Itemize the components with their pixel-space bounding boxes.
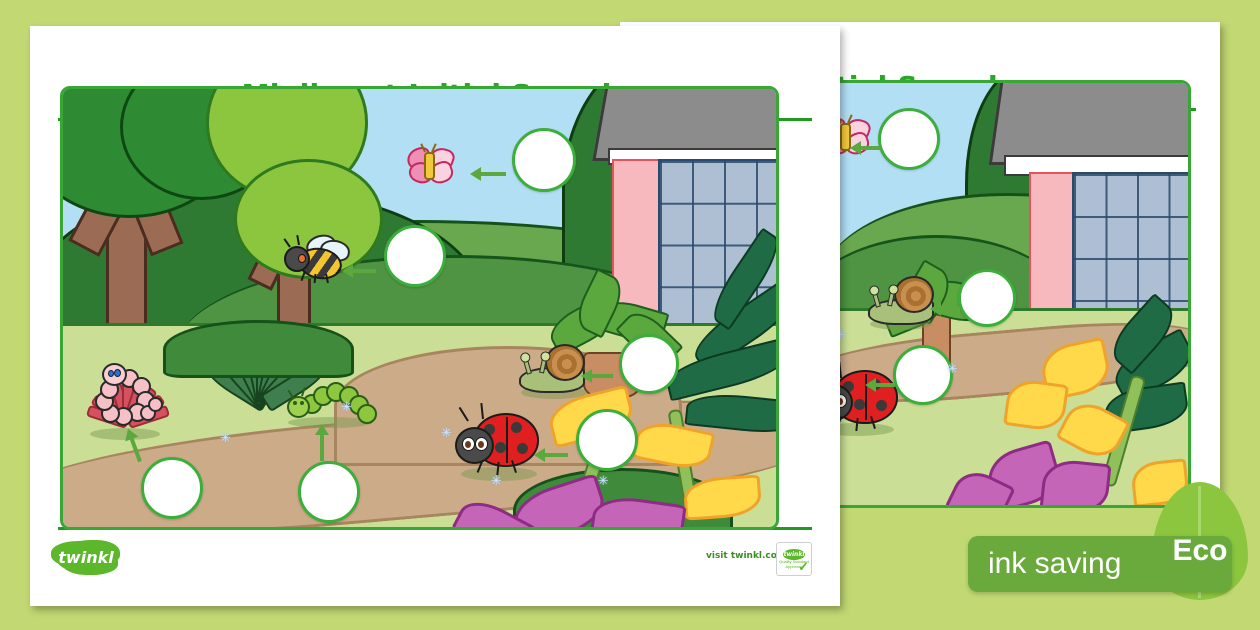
house-roof	[988, 80, 1191, 165]
twinkl-logo[interactable]: twinkl	[56, 542, 116, 572]
caterpillar-head	[287, 396, 310, 418]
ladybird-eye	[475, 437, 488, 451]
sparkle-icon: ✳	[441, 426, 452, 439]
back-sheet-garden-scene: ✳ ✳	[825, 80, 1191, 508]
ladybird	[455, 413, 541, 475]
arrow-to-snail	[591, 374, 613, 378]
screenshot-root: itial Sounds	[0, 0, 1260, 630]
ladybird-spot	[517, 443, 528, 454]
bee-leg	[301, 272, 306, 281]
check-icon: ✓	[798, 559, 809, 575]
sparkle-icon: ✳	[598, 474, 609, 487]
answer-circle-snail[interactable]	[619, 334, 679, 394]
snail	[868, 277, 934, 325]
visit-link[interactable]: visit twinkl.com	[706, 551, 786, 561]
butterfly-body	[840, 123, 851, 151]
ladybird-eye	[462, 437, 475, 451]
worm-eye	[108, 370, 114, 377]
answer-circle-ladybird[interactable]	[576, 409, 638, 471]
garden-scene: ✳ ✳ ✳ ✳ ✳	[60, 86, 779, 530]
ladybird-spot	[511, 422, 522, 433]
snail-shell	[894, 276, 934, 313]
caterpillar-antenna	[288, 390, 294, 399]
twinkl-logo-text: twinkl	[58, 548, 113, 567]
bee-head	[284, 246, 310, 272]
eco-label: Eco	[1162, 534, 1238, 568]
arrow-to-snail	[940, 307, 960, 311]
ladybird-wing-line	[506, 417, 508, 463]
answer-circle-snail[interactable]	[958, 269, 1016, 327]
worm-eye	[114, 369, 121, 377]
ladybird-spot	[854, 399, 865, 410]
arrow-to-caterpillar	[320, 435, 324, 461]
ladybird-head	[455, 427, 494, 464]
sparkle-icon: ✳	[341, 400, 352, 413]
sparkle-icon: ✳	[491, 474, 502, 487]
answer-circle-worm[interactable]	[141, 457, 203, 519]
worksheet-sheet-front[interactable]: Minibeast Initial Sounds	[30, 26, 840, 606]
butterfly-body	[424, 152, 435, 180]
bush	[163, 320, 354, 379]
sparkle-icon: ✳	[220, 431, 231, 444]
arrow-to-bee	[352, 269, 376, 273]
butterfly	[405, 146, 453, 182]
ladybird-spot	[876, 400, 887, 411]
snail	[519, 343, 589, 393]
bee	[284, 238, 354, 286]
ink-saving-label: ink saving	[988, 547, 1121, 581]
answer-circle-bee[interactable]	[384, 225, 446, 287]
caterpillar	[284, 382, 380, 428]
bee-eye	[298, 254, 306, 263]
arrow-to-butterfly	[480, 172, 506, 176]
arrow-to-ladybird	[875, 383, 895, 387]
arrow-to-butterfly	[860, 146, 882, 150]
arrow-to-ladybird	[544, 453, 568, 457]
bee-antenna	[283, 238, 290, 247]
quality-standard-badge: twinkl Quality Standard Approved ✓	[776, 542, 812, 576]
ladybird-spot	[495, 442, 506, 453]
sparkle-icon: ✳	[947, 362, 958, 375]
answer-circle-ladybird[interactable]	[893, 345, 953, 405]
